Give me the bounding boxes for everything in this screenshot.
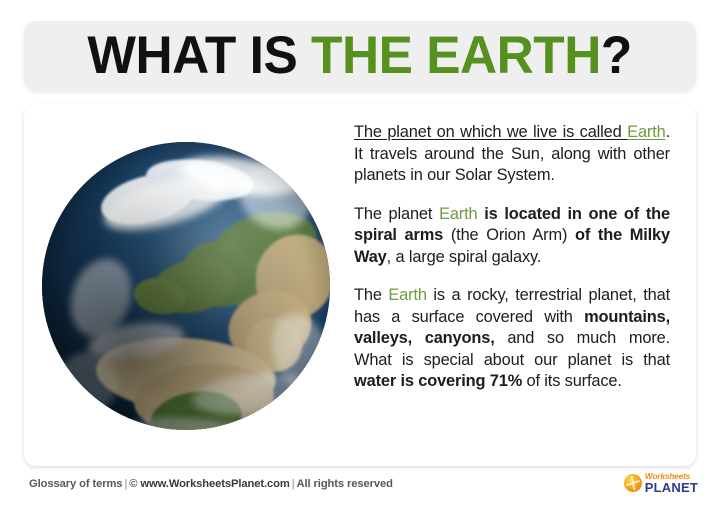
footer: Glossary of terms|© www.WorksheetsPlanet…	[0, 478, 720, 509]
worksheets-planet-logo[interactable]: Worksheets PLANET	[624, 472, 698, 494]
earth-illustration	[24, 104, 354, 466]
page-title: WHAT IS THE EARTH?	[88, 29, 632, 82]
p2-run-6: , a large spiral galaxy.	[387, 248, 542, 266]
p1-run-2-earth: Earth	[627, 123, 665, 141]
p3-run-6: water is covering 71%	[354, 372, 522, 390]
definition-text-column: The planet on which we live is called Ea…	[354, 104, 696, 466]
page-title-part-3: ?	[601, 26, 632, 85]
p2-run-2-earth: Earth	[439, 205, 477, 223]
paragraph-3: The Earth is a rocky, terrestrial planet…	[354, 285, 670, 393]
page-title-part-1: WHAT IS	[88, 26, 312, 85]
footer-rights: All rights reserved	[297, 478, 393, 490]
logo-bottom-word: PLANET	[645, 481, 698, 494]
planet-icon	[624, 474, 642, 492]
p2-run-1: The planet	[354, 205, 439, 223]
footer-site-link[interactable]: www.WorksheetsPlanet.com	[140, 478, 289, 490]
logo-wordmark: Worksheets PLANET	[645, 472, 698, 494]
footer-separator-2: |	[290, 478, 297, 490]
footer-credits: Glossary of terms|© www.WorksheetsPlanet…	[29, 478, 393, 490]
p3-run-2-earth: Earth	[388, 286, 426, 304]
globe-shading	[42, 142, 330, 430]
page-title-part-2: THE EARTH	[311, 26, 601, 85]
p3-run-1: The	[354, 286, 388, 304]
paragraph-2: The planet Earth is located in one of th…	[354, 204, 670, 269]
p2-run-4: (the Orion Arm)	[451, 226, 567, 244]
p1-run-1: The planet on which we live is called	[354, 123, 627, 141]
content-card: The planet on which we live is called Ea…	[24, 104, 696, 466]
logo-top-word: Worksheets	[645, 472, 698, 480]
title-card: WHAT IS THE EARTH?	[24, 21, 696, 90]
footer-glossary-link[interactable]: Glossary of terms	[29, 478, 122, 490]
earth-globe-icon	[42, 142, 330, 430]
paragraph-1: The planet on which we live is called Ea…	[354, 122, 670, 187]
copyright-icon: ©	[129, 478, 137, 490]
p3-run-7: of its surface.	[522, 372, 622, 390]
